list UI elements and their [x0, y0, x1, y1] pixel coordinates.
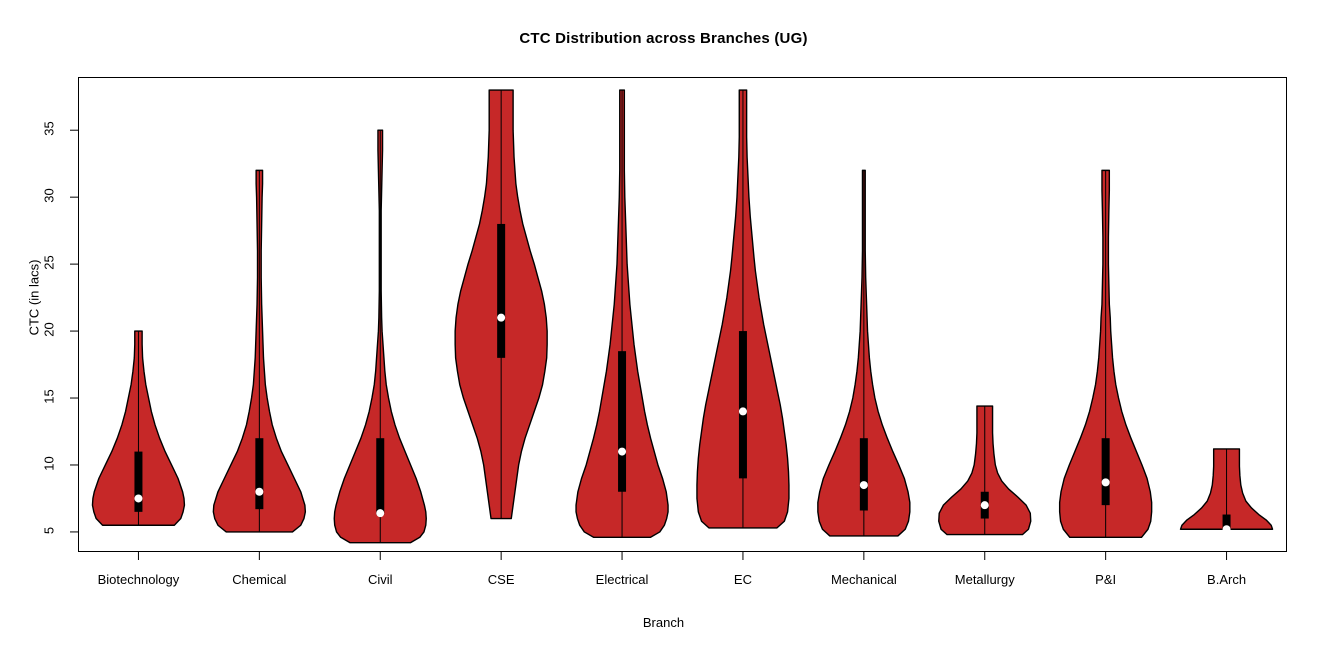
violin-biotechnology[interactable]	[92, 331, 184, 525]
median-marker	[1102, 478, 1110, 486]
median-marker	[618, 448, 626, 456]
median-marker	[376, 509, 384, 517]
x-axis-tick-label-ec: EC	[734, 572, 752, 587]
y-axis-title: CTC (in lacs)	[27, 238, 42, 358]
x-axis-tick-label-metallurgy: Metallurgy	[955, 572, 1015, 587]
y-axis-tick-label: 35	[42, 112, 57, 146]
violin-cse[interactable]	[455, 90, 547, 519]
x-axis-tick-label-biotechnology: Biotechnology	[98, 572, 180, 587]
x-axis-tick-label-p-i: P&I	[1095, 572, 1116, 587]
iqr-box	[1102, 438, 1110, 505]
violin-mechanical[interactable]	[818, 170, 910, 536]
x-axis-tick-label-b-arch: B.Arch	[1207, 572, 1246, 587]
median-marker	[739, 407, 747, 415]
violin-ec[interactable]	[697, 90, 789, 528]
median-marker	[134, 494, 142, 502]
violin-metallurgy[interactable]	[939, 406, 1031, 535]
iqr-box	[134, 452, 142, 512]
x-axis-tick-label-civil: Civil	[368, 572, 393, 587]
y-axis-tick-label: 10	[42, 446, 57, 480]
median-marker	[497, 314, 505, 322]
iqr-box	[739, 331, 747, 478]
violin-series-group	[92, 90, 1272, 543]
x-axis-tick-label-mechanical: Mechanical	[831, 572, 897, 587]
violin-chemical[interactable]	[213, 170, 305, 532]
violin-plot-figure: CTC Distribution across Branches (UG) CT…	[0, 0, 1327, 653]
median-marker	[860, 481, 868, 489]
iqr-box	[860, 438, 868, 510]
x-axis-tick-label-electrical: Electrical	[596, 572, 649, 587]
violin-electrical[interactable]	[576, 90, 668, 537]
median-marker	[1223, 525, 1231, 533]
y-axis-tick-label: 25	[42, 246, 57, 280]
y-axis-tick-label: 30	[42, 179, 57, 213]
median-marker	[255, 488, 263, 496]
iqr-box	[618, 351, 626, 492]
y-axis-tick-label: 20	[42, 313, 57, 347]
iqr-box	[255, 438, 263, 509]
violin-p-i[interactable]	[1060, 170, 1152, 537]
iqr-box	[497, 224, 505, 358]
y-axis-tick-label: 5	[42, 513, 57, 547]
iqr-box	[376, 438, 384, 514]
x-axis-tick-label-cse: CSE	[488, 572, 515, 587]
median-marker	[981, 501, 989, 509]
x-axis-tick-label-chemical: Chemical	[232, 572, 286, 587]
violin-b-arch[interactable]	[1181, 449, 1273, 533]
y-axis-tick-label: 15	[42, 380, 57, 414]
violin-civil[interactable]	[334, 130, 426, 542]
plot-canvas	[0, 0, 1327, 653]
x-axis-title: Branch	[0, 615, 1327, 630]
